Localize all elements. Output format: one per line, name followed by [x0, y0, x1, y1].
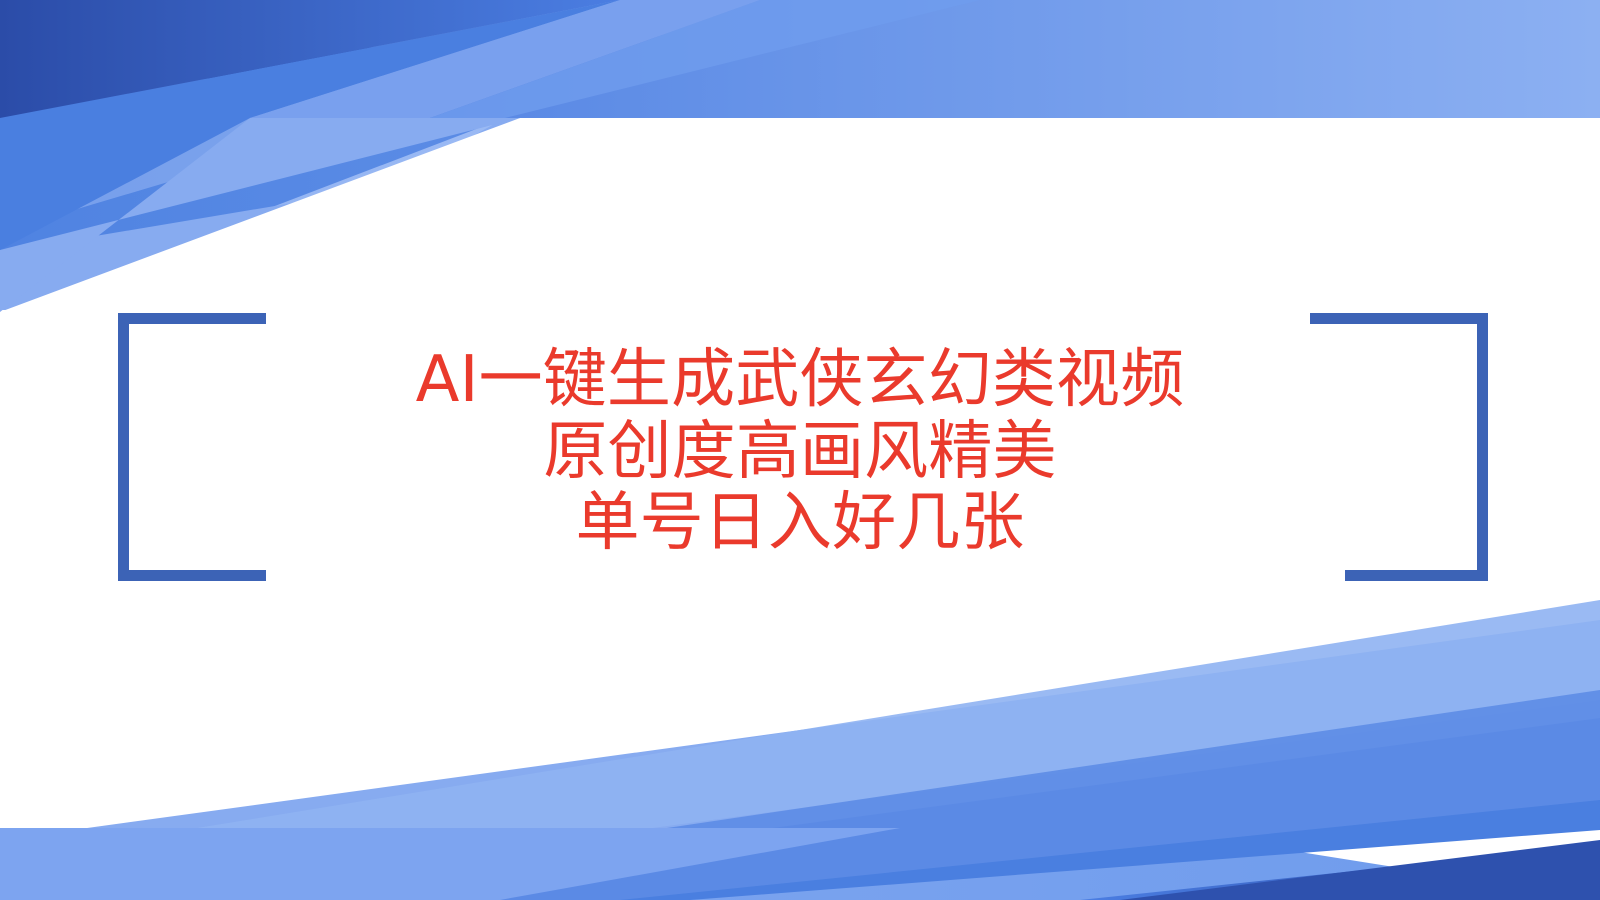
headline-block: AI一键生成武侠玄幻类视频 原创度高画风精美 单号日入好几张	[0, 345, 1600, 560]
headline-line-3: 单号日入好几张	[0, 488, 1600, 560]
poster-canvas: AI一键生成武侠玄幻类视频 原创度高画风精美 单号日入好几张	[0, 0, 1600, 900]
headline-line-1: AI一键生成武侠玄幻类视频	[0, 345, 1600, 417]
headline-line-2: 原创度高画风精美	[0, 417, 1600, 489]
